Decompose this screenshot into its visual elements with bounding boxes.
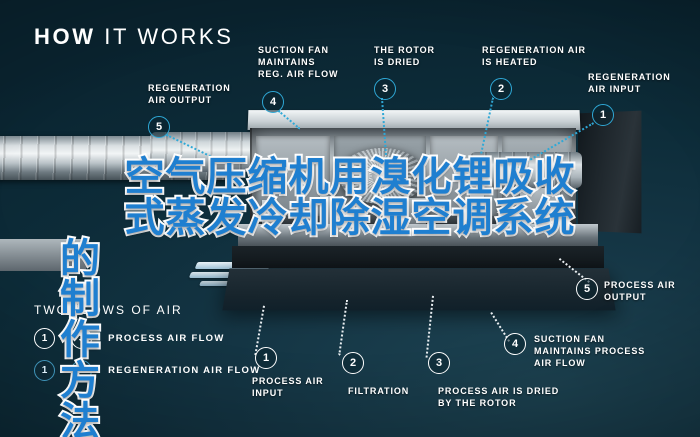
callout-line: PROCESS AIR IS DRIED [438,386,559,398]
overlay-line-1: 空气压缩机用溴化锂吸收 [0,157,700,198]
page-title-rest: IT WORKS [104,24,233,49]
callout-line: REGENERATION [588,72,671,84]
callout-label-regen-air-heated: REGENERATION AIR IS HEATED [482,45,586,69]
callout-line: REG. AIR FLOW [258,69,338,81]
callout-line: IS DRIED [374,57,435,69]
badge-number: 1 [42,365,48,376]
callout-label-process-air-input: PROCESS AIR INPUT [252,376,324,400]
infographic-canvas: HOW IT WORKS REGENERATION AIR OUTPUT 5 S… [0,0,700,437]
badge-number: 2 [350,357,356,369]
callout-line: INPUT [252,388,324,400]
badge-number: 4 [512,338,518,350]
callout-line: AIR INPUT [588,84,671,96]
badge-number: 1 [42,333,48,344]
callout-label-rotor-dried: THE ROTOR IS DRIED [374,45,435,69]
overlay-line-3: 的制作方法 [0,239,86,271]
floor-plane [222,268,615,310]
callout-label-suction-fan-reg: SUCTION FAN MAINTAINS REG. AIR FLOW [258,45,338,81]
callout-line: IS HEATED [482,57,586,69]
callout-label-suction-fan-process: SUCTION FAN MAINTAINS PROCESS AIR FLOW [534,334,645,370]
callout-label-regen-air-input: REGENERATION AIR INPUT [588,72,671,96]
callout-line: SUCTION FAN [258,45,338,57]
badge-number: 2 [498,83,504,95]
callout-line: REGENERATION AIR [482,45,586,57]
callout-line: THE ROTOR [374,45,435,57]
callout-badge-3-bottom[interactable]: 3 [428,352,450,374]
callout-label-regeneration-air-output: REGENERATION AIR OUTPUT [148,83,231,107]
badge-number: 4 [270,96,276,108]
callout-badge-4-right[interactable]: 4 [504,333,526,355]
overlay-line-2: 式蒸发冷却除湿空调系统 [0,198,700,239]
page-title-bold: HOW [34,24,96,49]
legend-badge-from: 1 [34,360,55,381]
legend-label: REGENERATION AIR FLOW [108,365,260,376]
callout-label-process-air-output: PROCESS AIR OUTPUT [604,280,676,304]
badge-number: 3 [382,83,388,95]
badge-number: 5 [156,121,162,133]
callout-line: OUTPUT [604,292,676,304]
callout-line: AIR FLOW [534,358,645,370]
callout-line: FILTRATION [348,386,409,398]
callout-badge-3-top[interactable]: 3 [374,78,396,100]
callout-label-filtration: FILTRATION [348,386,409,398]
legend-badge-from: 1 [34,328,55,349]
callout-line: PROCESS AIR [252,376,324,388]
legend-label: PROCESS AIR FLOW [108,333,225,344]
callout-line: SUCTION FAN [534,334,645,346]
callout-line: BY THE ROTOR [438,398,559,410]
page-title: HOW IT WORKS [34,24,233,50]
callout-badge-2-top[interactable]: 2 [490,78,512,100]
callout-badge-5-right[interactable]: 5 [576,278,598,300]
callout-label-process-air-dried: PROCESS AIR IS DRIED BY THE ROTOR [438,386,559,410]
callout-line: AIR OUTPUT [148,95,231,107]
callout-line: MAINTAINS PROCESS [534,346,645,358]
callout-line: MAINTAINS [258,57,338,69]
callout-badge-4-top[interactable]: 4 [262,91,284,113]
callout-line: REGENERATION [148,83,231,95]
badge-number: 5 [584,283,590,295]
badge-number: 1 [263,352,269,364]
badge-number: 1 [600,109,606,121]
callout-badge-1-top[interactable]: 1 [592,104,614,126]
chinese-overlay-title: 空气压缩机用溴化锂吸收 式蒸发冷却除湿空调系统 的制作方法 [0,157,700,271]
badge-number: 3 [436,357,442,369]
callout-line: PROCESS AIR [604,280,676,292]
callout-badge-2-bottom[interactable]: 2 [342,352,364,374]
